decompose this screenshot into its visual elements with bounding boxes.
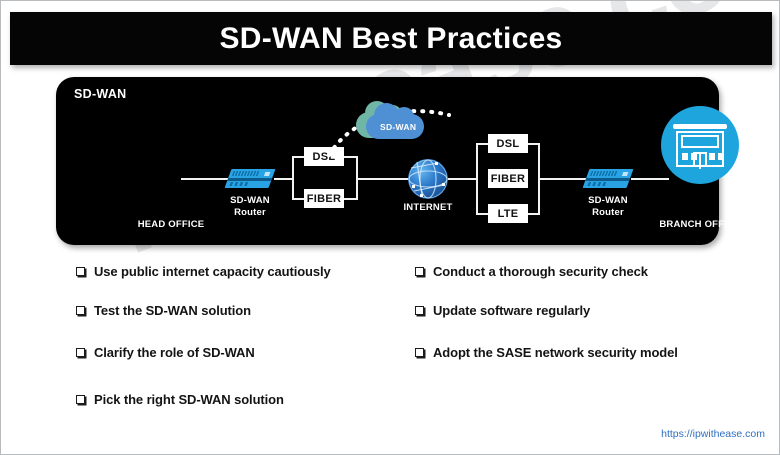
link-box-right-fiber: FIBER bbox=[488, 169, 528, 188]
list-item[interactable]: Use public internet capacity cautiously bbox=[76, 264, 331, 279]
right-router-label-line1: SD-WAN bbox=[588, 195, 628, 206]
link-box-right-lte: LTE bbox=[488, 204, 528, 223]
link-box-right-dsl: DSL bbox=[488, 134, 528, 153]
footer-site-url[interactable]: https://ipwithease.com bbox=[661, 428, 765, 440]
bracket-left-in bbox=[292, 156, 294, 200]
wire-router-to-links-left bbox=[274, 178, 292, 180]
list-item-label: Pick the right SD-WAN solution bbox=[94, 392, 284, 407]
link-box-left-fiber: FIBER bbox=[304, 189, 344, 208]
left-router-label: SD-WAN Router bbox=[200, 195, 300, 219]
network-diagram-panel: SD-WAN DSL FIBER DSL FIBER LTE bbox=[56, 77, 719, 245]
office-pane-left-1 bbox=[682, 153, 688, 160]
bracket-left-out-bottom bbox=[342, 198, 356, 200]
list-item[interactable]: Pick the right SD-WAN solution bbox=[76, 392, 284, 407]
office-pane-right-1 bbox=[709, 153, 715, 160]
router-stripe bbox=[227, 178, 272, 181]
sdwan-cloud-icon: SD-WAN bbox=[356, 100, 426, 140]
page-title: SD-WAN Best Practices bbox=[219, 22, 562, 56]
checkbox-icon[interactable] bbox=[76, 306, 85, 315]
checkbox-icon[interactable] bbox=[415, 306, 424, 315]
list-item-label: Test the SD-WAN solution bbox=[94, 303, 251, 318]
router-ports-bottom bbox=[587, 182, 608, 186]
bracket-right-in bbox=[476, 143, 478, 215]
office-door bbox=[693, 152, 707, 167]
title-banner: SD-WAN Best Practices bbox=[10, 12, 772, 65]
list-item-label: Conduct a thorough security check bbox=[433, 264, 648, 279]
diagram-panel-label: SD-WAN bbox=[74, 87, 127, 101]
globe-meridians bbox=[408, 159, 448, 199]
list-item-label: Use public internet capacity cautiously bbox=[94, 264, 331, 279]
list-item-label: Clarify the role of SD-WAN bbox=[94, 345, 255, 360]
router-ports-top bbox=[590, 171, 618, 176]
checkbox-icon[interactable] bbox=[76, 267, 85, 276]
right-router-label-line2: Router bbox=[592, 207, 624, 218]
list-item[interactable]: Clarify the role of SD-WAN bbox=[76, 345, 255, 360]
list-item-label: Update software regularly bbox=[433, 303, 590, 318]
router-glyph bbox=[225, 169, 276, 188]
checkbox-icon[interactable] bbox=[415, 348, 424, 357]
head-office-label: HEAD OFFICE bbox=[116, 219, 226, 231]
checkbox-icon[interactable] bbox=[415, 267, 424, 276]
wire-router-to-branch bbox=[631, 178, 669, 180]
office-pane-right-2 bbox=[718, 153, 724, 160]
wire-internet-to-links-right bbox=[448, 178, 476, 180]
left-router-label-line1: SD-WAN bbox=[230, 195, 270, 206]
office-roof bbox=[673, 124, 727, 129]
infographic-page: ipwithease.com SD-WAN Best Practices SD-… bbox=[0, 0, 780, 455]
bracket-right-out bbox=[538, 143, 540, 215]
wire-links-to-internet bbox=[356, 178, 410, 180]
router-ports-top bbox=[232, 171, 260, 176]
list-item[interactable]: Adopt the SASE network security model bbox=[415, 345, 678, 360]
list-item[interactable]: Test the SD-WAN solution bbox=[76, 303, 251, 318]
right-router-label: SD-WAN Router bbox=[558, 195, 658, 219]
office-window bbox=[681, 135, 719, 148]
router-glyph bbox=[583, 169, 634, 188]
checkbox-icon[interactable] bbox=[76, 395, 85, 404]
bracket-left-out bbox=[356, 156, 358, 200]
router-stripe bbox=[585, 178, 630, 181]
list-item[interactable]: Update software regularly bbox=[415, 303, 590, 318]
list-item[interactable]: Conduct a thorough security check bbox=[415, 264, 648, 279]
cloud-label: SD-WAN bbox=[380, 122, 416, 132]
router-status-light bbox=[622, 172, 628, 176]
left-router-label-line2: Router bbox=[234, 207, 266, 218]
router-status-light bbox=[264, 172, 270, 176]
checkbox-icon[interactable] bbox=[76, 348, 85, 357]
branch-office-label: BRANCH OFFICE bbox=[650, 219, 750, 231]
list-item-label: Adopt the SASE network security model bbox=[433, 345, 678, 360]
internet-label: INTERNET bbox=[388, 202, 468, 214]
router-ports-bottom bbox=[229, 182, 250, 186]
